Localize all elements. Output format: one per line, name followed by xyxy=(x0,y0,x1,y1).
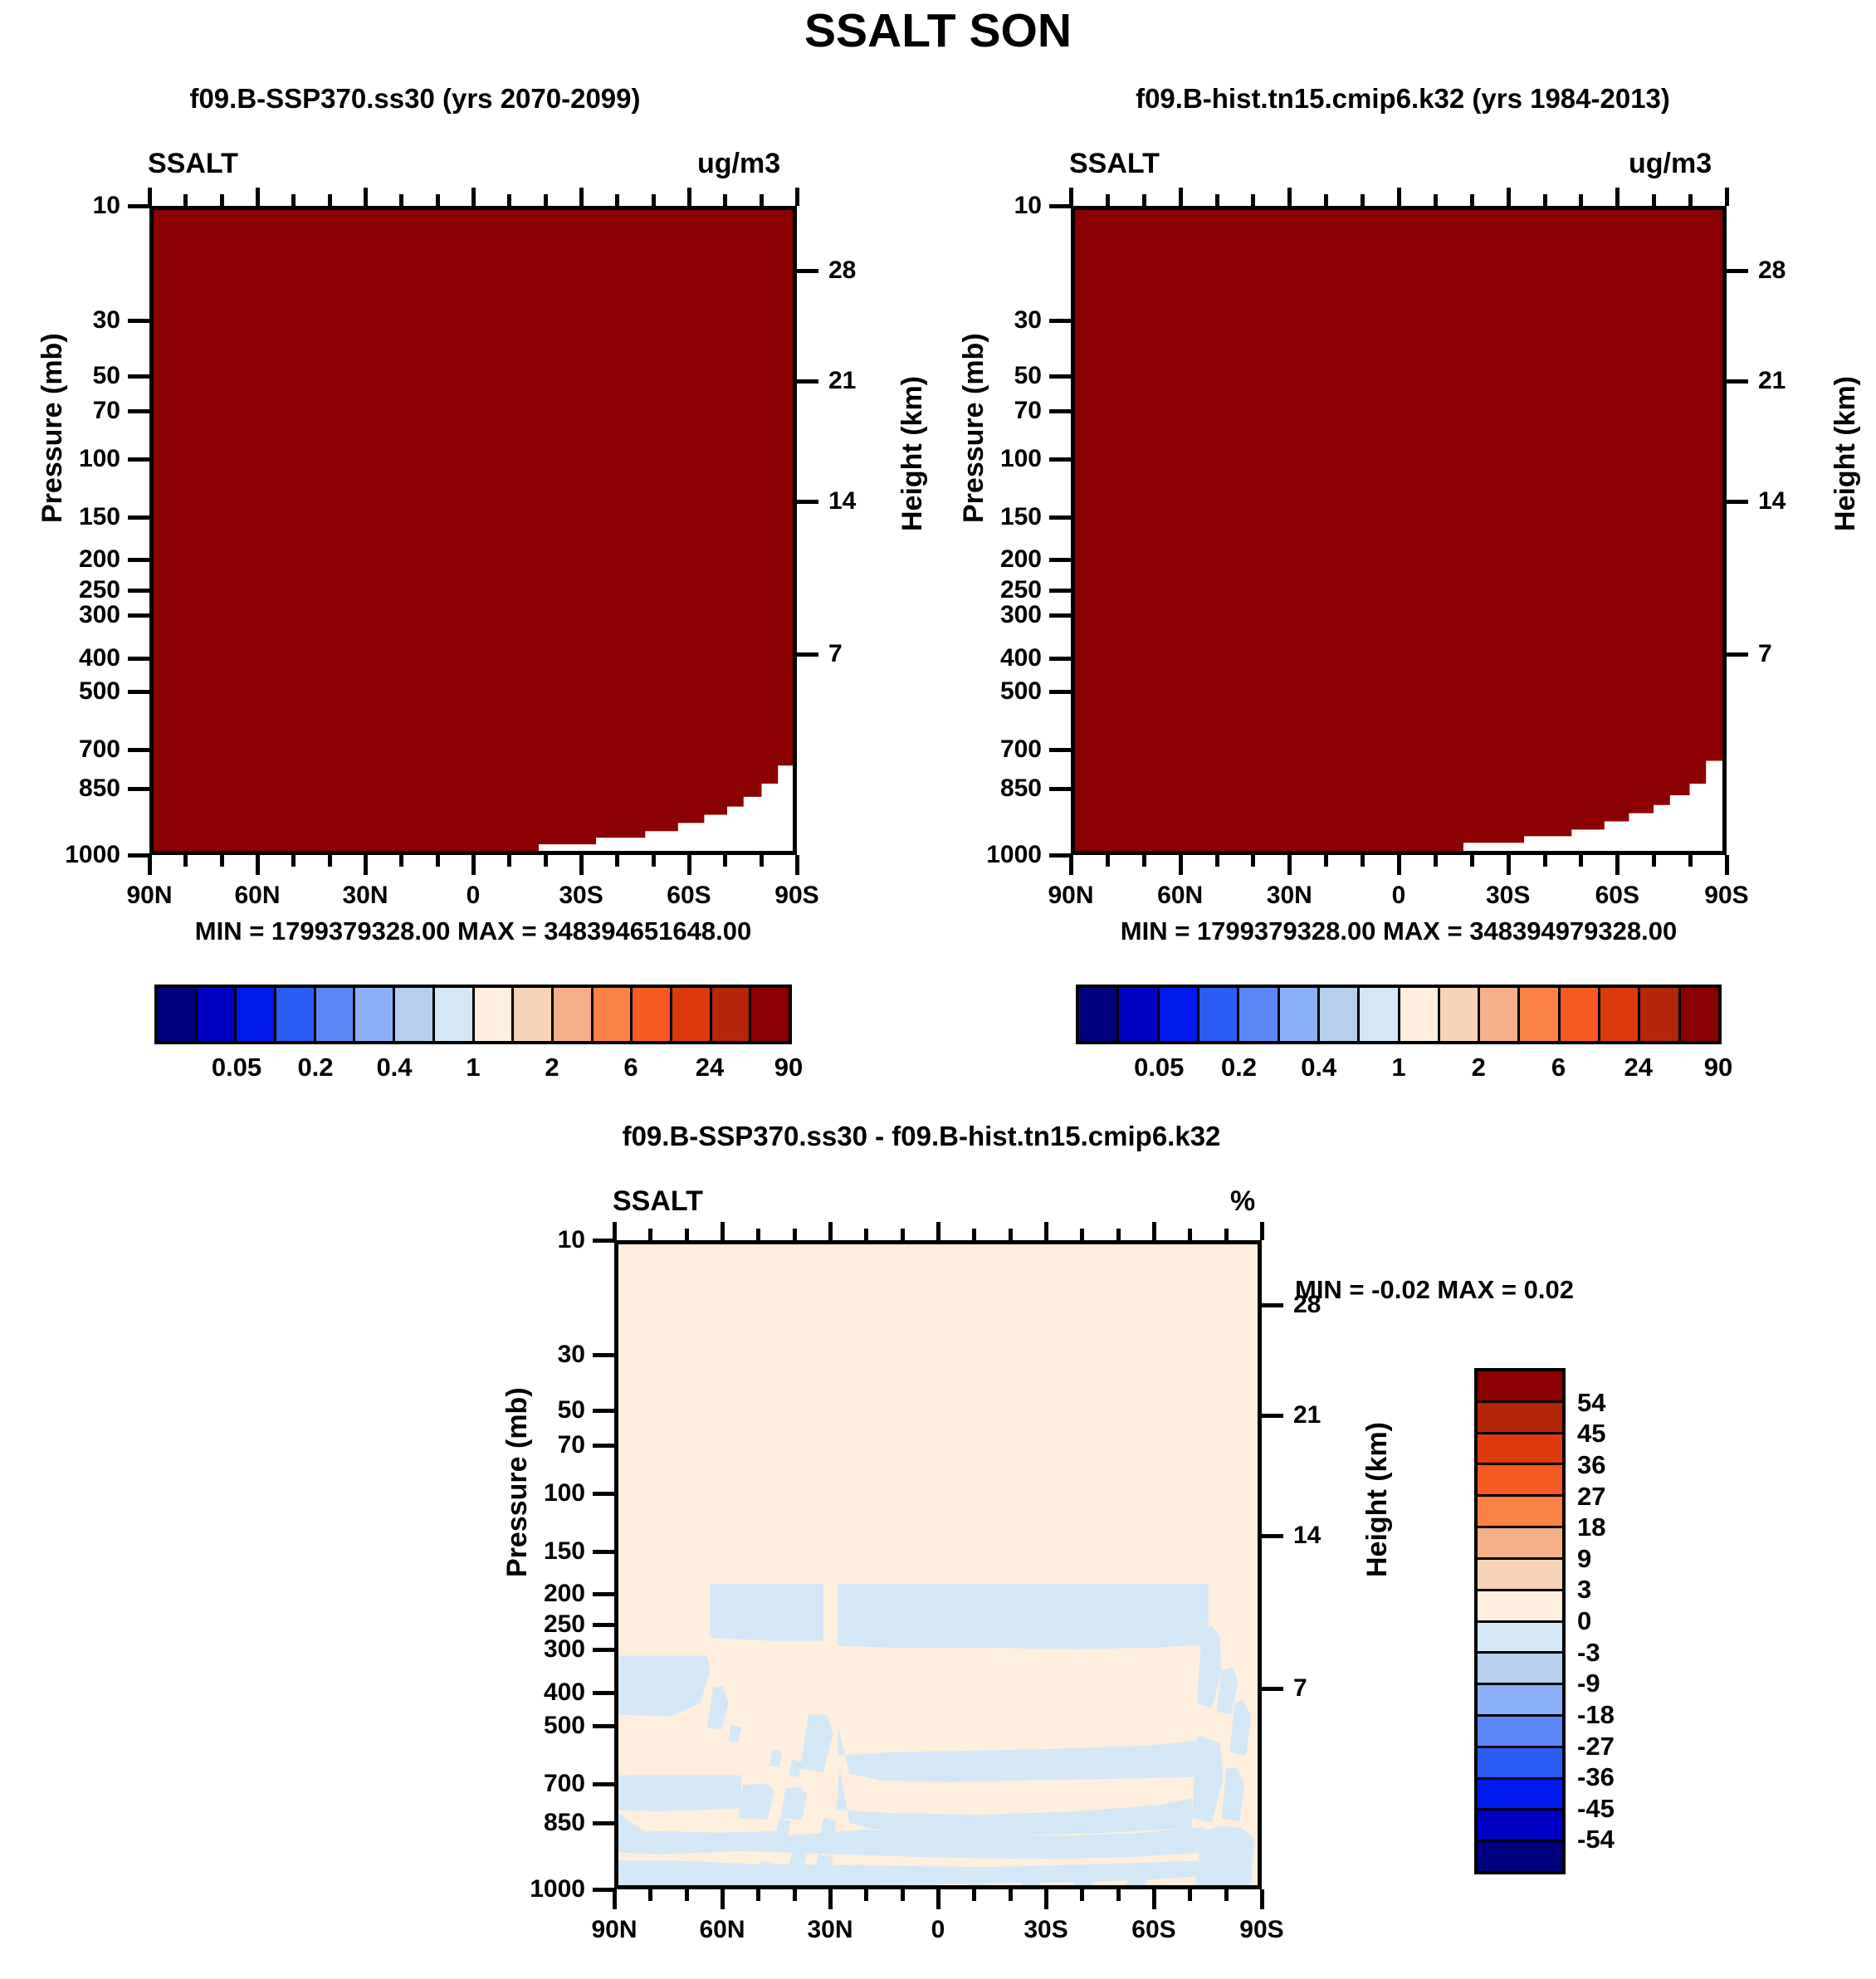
missing-data-wedge-top-left xyxy=(154,210,793,851)
pressure-tick-mark xyxy=(593,1691,614,1695)
latitude-minor-tick xyxy=(723,855,727,867)
plot-area-top-left[interactable] xyxy=(149,206,797,855)
colorbar-cell xyxy=(1440,988,1480,1041)
pressure-tick-label: 850 xyxy=(457,1809,585,1837)
latitude-minor-tick xyxy=(864,1889,868,1901)
pressure-tick-mark xyxy=(593,1239,614,1243)
pressure-tick-mark xyxy=(593,1353,614,1357)
latitude-minor-tick xyxy=(901,1889,905,1901)
minmax-top-left: MIN = 1799379328.00 MAX = 348394651648.0… xyxy=(149,916,797,946)
pressure-tick-mark xyxy=(128,558,149,562)
colorbar-cell xyxy=(475,988,515,1041)
pressure-tick-label: 1000 xyxy=(913,841,1042,869)
colorbar-tick-label: 2 xyxy=(545,1053,559,1082)
colorbar-tick-label: 45 xyxy=(1577,1419,1605,1449)
pressure-tick-label: 200 xyxy=(457,1580,585,1608)
latitude-minor-tick xyxy=(1009,1889,1013,1901)
colorbar-tick-label: -18 xyxy=(1577,1700,1615,1730)
height-tick-label: 28 xyxy=(1758,257,1786,285)
latitude-tick-mark-top xyxy=(364,188,368,206)
latitude-tick-mark-top xyxy=(828,1222,833,1240)
pressure-tick-mark xyxy=(128,374,149,379)
pressure-tick-label: 700 xyxy=(457,1770,585,1798)
latitude-tick-label: 30N xyxy=(1267,882,1312,910)
colorbar-cell xyxy=(355,988,395,1041)
pressure-tick-label: 10 xyxy=(457,1226,585,1254)
colorbar-cell xyxy=(1478,1842,1562,1871)
pressure-tick-mark xyxy=(593,1409,614,1413)
colorbar-cell xyxy=(237,988,276,1041)
latitude-tick-label: 90N xyxy=(1048,882,1093,910)
panel-title-top-right: f09.B-hist.tn15.cmip6.k32 (yrs 1984-2013… xyxy=(988,83,1818,115)
pressure-tick-mark xyxy=(1049,374,1071,379)
pressure-tick-mark xyxy=(128,690,149,694)
latitude-minor-tick-top xyxy=(1688,194,1693,206)
latitude-tick-label: 30S xyxy=(1023,1916,1067,1944)
colorbar-cell xyxy=(1079,988,1119,1041)
pressure-tick-mark xyxy=(128,657,149,661)
pressure-tick-mark xyxy=(128,409,149,413)
latitude-minor-tick-top xyxy=(864,1229,868,1240)
colorbar-cell xyxy=(594,988,633,1041)
height-tick-mark xyxy=(1727,500,1748,504)
pressure-tick-label: 30 xyxy=(913,306,1042,335)
pressure-tick-mark xyxy=(1049,589,1071,593)
latitude-tick-mark-top xyxy=(256,188,260,206)
latitude-tick-label: 0 xyxy=(467,882,481,910)
height-tick-label: 14 xyxy=(828,487,856,516)
latitude-minor-tick xyxy=(652,855,656,867)
pressure-tick-label: 70 xyxy=(0,397,120,425)
height-tick-label: 14 xyxy=(1293,1522,1321,1550)
latitude-tick-mark-top xyxy=(1260,1222,1264,1240)
pressure-tick-mark xyxy=(1049,319,1071,323)
latitude-tick-label: 30S xyxy=(1486,882,1530,910)
latitude-tick-mark-top xyxy=(1397,188,1401,206)
colorbar-cell xyxy=(1199,988,1239,1041)
missing-data-wedge-top-right xyxy=(1075,210,1722,851)
colorbar-cell xyxy=(435,988,475,1041)
latitude-tick-mark xyxy=(1179,855,1183,875)
minmax-bottom-diff: MIN = -0.02 MAX = 0.02 xyxy=(1295,1275,1760,1305)
height-tick-mark xyxy=(1727,652,1748,657)
pressure-tick-mark xyxy=(128,204,149,208)
latitude-tick-mark xyxy=(795,855,799,875)
colorbar-tick-label: 18 xyxy=(1577,1512,1605,1542)
latitude-tick-mark xyxy=(1152,1889,1156,1909)
latitude-tick-mark xyxy=(1287,855,1292,875)
colorbar-cell xyxy=(1239,988,1279,1041)
latitude-minor-tick-top xyxy=(1324,194,1328,206)
pressure-tick-label: 700 xyxy=(913,735,1042,764)
latitude-tick-mark-top xyxy=(1044,1222,1048,1240)
plot-area-bottom-diff[interactable] xyxy=(614,1240,1262,1889)
colorbar-tick-label: 24 xyxy=(696,1053,724,1082)
pressure-tick-label: 850 xyxy=(0,774,120,803)
colorbar-cell xyxy=(1478,1654,1562,1685)
colorbar-tick-label: -45 xyxy=(1577,1794,1615,1824)
latitude-tick-mark xyxy=(687,855,691,875)
height-tick-label: 28 xyxy=(828,257,856,285)
colorbar-cell xyxy=(554,988,594,1041)
latitude-minor-tick xyxy=(1470,855,1474,867)
unit-label-top-right: ug/m3 xyxy=(1629,148,1712,180)
pressure-tick-label: 400 xyxy=(457,1678,585,1707)
colorbar-tick-label: 1 xyxy=(466,1053,480,1082)
colorbar-cell xyxy=(1478,1528,1562,1560)
pressure-tick-mark xyxy=(1049,787,1071,791)
colorbar-cell xyxy=(1478,1434,1562,1466)
colorbar-cell xyxy=(1478,1371,1562,1403)
latitude-tick-mark xyxy=(579,855,584,875)
height-tick-label: 21 xyxy=(1293,1401,1321,1429)
height-tick-label: 21 xyxy=(828,367,856,395)
colorbar-tick-label: 6 xyxy=(1551,1053,1566,1082)
colorbar-cell xyxy=(395,988,435,1041)
latitude-minor-tick-top xyxy=(901,1229,905,1240)
latitude-minor-tick-top xyxy=(1142,194,1146,206)
colorbar-cell xyxy=(1478,1748,1562,1780)
colorbar-cell xyxy=(316,988,356,1041)
latitude-tick-label: 0 xyxy=(931,1916,945,1944)
colorbar-cell xyxy=(514,988,554,1041)
latitude-minor-tick xyxy=(1361,855,1365,867)
latitude-tick-label: 90N xyxy=(591,1916,637,1944)
height-tick-label: 21 xyxy=(1758,367,1786,395)
pressure-tick-mark xyxy=(128,319,149,323)
latitude-tick-mark-top xyxy=(1725,188,1729,206)
colorbar-tick-label: 1 xyxy=(1391,1053,1405,1082)
pressure-tick-label: 200 xyxy=(913,545,1042,574)
latitude-minor-tick-top xyxy=(1188,1229,1192,1240)
latitude-minor-tick xyxy=(328,855,332,867)
pressure-tick-mark xyxy=(1049,516,1071,520)
height-tick-mark xyxy=(1262,1534,1283,1538)
colorbar-labels-top-left: 0.050.20.41262490 xyxy=(154,1053,792,1086)
pressure-tick-mark xyxy=(593,1648,614,1652)
latitude-minor-tick-top xyxy=(652,194,656,206)
pressure-tick-label: 850 xyxy=(913,774,1042,803)
colorbar-tick-label: 6 xyxy=(623,1053,638,1082)
colorbar-tick-label: 54 xyxy=(1577,1388,1605,1418)
pressure-tick-mark xyxy=(1049,558,1071,562)
height-tick-mark xyxy=(797,269,818,273)
pressure-tick-label: 150 xyxy=(913,503,1042,531)
pressure-tick-mark xyxy=(593,1623,614,1627)
pressure-tick-mark xyxy=(593,1888,614,1892)
latitude-tick-mark-top xyxy=(148,188,152,206)
latitude-minor-tick xyxy=(1188,1889,1192,1901)
colorbar-tick-label: 90 xyxy=(774,1053,803,1082)
colorbar-top-left[interactable] xyxy=(154,985,792,1044)
latitude-minor-tick xyxy=(793,1889,797,1901)
pressure-tick-mark xyxy=(128,787,149,791)
pressure-tick-label: 200 xyxy=(0,545,120,574)
pressure-tick-label: 10 xyxy=(913,192,1042,220)
pressure-tick-mark xyxy=(1049,204,1071,208)
latitude-minor-tick-top xyxy=(1116,1229,1121,1240)
latitude-minor-tick-top xyxy=(1470,194,1474,206)
latitude-tick-mark-top xyxy=(1179,188,1183,206)
pressure-tick-mark xyxy=(128,748,149,752)
latitude-tick-mark-top xyxy=(795,188,799,206)
height-tick-mark xyxy=(1262,1687,1283,1691)
colorbar-top-right[interactable] xyxy=(1076,985,1722,1044)
latitude-tick-label: 90S xyxy=(1704,882,1748,910)
pressure-tick-mark xyxy=(1049,748,1071,752)
colorbar-bottom-diff[interactable] xyxy=(1474,1368,1566,1874)
latitude-minor-tick-top xyxy=(760,194,764,206)
latitude-tick-mark-top xyxy=(1615,188,1620,206)
plot-area-top-right[interactable] xyxy=(1071,206,1727,855)
pressure-tick-label: 50 xyxy=(913,362,1042,390)
pressure-tick-mark xyxy=(1049,457,1071,462)
latitude-tick-mark xyxy=(256,855,260,875)
height-tick-mark xyxy=(797,652,818,657)
latitude-tick-label: 90S xyxy=(774,882,818,910)
pressure-tick-mark xyxy=(593,1444,614,1448)
height-tick-mark xyxy=(1727,269,1748,273)
colorbar-tick-label: 27 xyxy=(1577,1482,1605,1512)
page-title: SSALT SON xyxy=(0,3,1876,58)
pressure-tick-mark xyxy=(593,1592,614,1596)
latitude-minor-tick-top xyxy=(507,194,511,206)
latitude-minor-tick-top xyxy=(1652,194,1656,206)
pressure-tick-label: 150 xyxy=(0,503,120,531)
pressure-tick-mark xyxy=(593,1724,614,1728)
latitude-minor-tick xyxy=(685,1889,689,1901)
colorbar-tick-label: 36 xyxy=(1577,1450,1605,1480)
latitude-minor-tick xyxy=(399,855,403,867)
pressure-tick-label: 150 xyxy=(457,1537,585,1566)
colorbar-tick-label: 24 xyxy=(1624,1053,1653,1082)
latitude-minor-tick-top xyxy=(399,194,403,206)
colorbar-cell xyxy=(1478,1623,1562,1654)
pressure-tick-mark xyxy=(1049,657,1071,661)
pressure-tick-mark xyxy=(593,1492,614,1496)
latitude-tick-mark-top xyxy=(687,188,691,206)
pressure-tick-label: 500 xyxy=(913,677,1042,706)
latitude-minor-tick xyxy=(1116,1889,1121,1901)
pressure-tick-mark xyxy=(128,516,149,520)
latitude-minor-tick xyxy=(544,855,548,867)
latitude-tick-mark-top xyxy=(1287,188,1292,206)
colorbar-cell xyxy=(1478,1685,1562,1717)
colorbar-cell xyxy=(1478,1560,1562,1591)
latitude-tick-mark-top xyxy=(471,188,476,206)
colorbar-tick-label: 0.2 xyxy=(297,1053,333,1082)
latitude-tick-mark xyxy=(1507,855,1511,875)
latitude-tick-mark xyxy=(364,855,368,875)
height-axis-title-bottom-diff: Height (km) xyxy=(1361,1422,1394,1577)
latitude-minor-tick-top xyxy=(328,194,332,206)
latitude-minor-tick-top xyxy=(436,194,440,206)
latitude-tick-mark xyxy=(936,1889,940,1909)
pressure-tick-label: 300 xyxy=(913,601,1042,629)
latitude-minor-tick xyxy=(1142,855,1146,867)
latitude-tick-label: 60S xyxy=(667,882,711,910)
pressure-tick-mark xyxy=(128,853,149,858)
latitude-minor-tick-top xyxy=(1361,194,1365,206)
latitude-tick-mark xyxy=(471,855,476,875)
variable-label-bottom-diff: SSALT xyxy=(613,1185,703,1218)
colorbar-cell xyxy=(1400,988,1440,1041)
colorbar-tick-label: 0.2 xyxy=(1221,1053,1257,1082)
colorbar-cell xyxy=(1520,988,1560,1041)
colorbar-tick-label: 0.05 xyxy=(1134,1053,1184,1082)
pressure-tick-label: 100 xyxy=(457,1479,585,1507)
colorbar-cell xyxy=(1478,1403,1562,1434)
latitude-tick-mark xyxy=(721,1889,725,1909)
colorbar-cell xyxy=(1561,988,1600,1041)
diff-negative-bands-bottom-diff xyxy=(618,1244,1258,1885)
latitude-minor-tick xyxy=(507,855,511,867)
pressure-tick-label: 50 xyxy=(457,1396,585,1424)
colorbar-cell xyxy=(1480,988,1520,1041)
pressure-tick-label: 500 xyxy=(0,677,120,706)
colorbar-cell xyxy=(1478,1717,1562,1748)
latitude-tick-mark xyxy=(1615,855,1620,875)
colorbar-cell xyxy=(1478,1591,1562,1623)
latitude-minor-tick xyxy=(1251,855,1255,867)
pressure-tick-label: 1000 xyxy=(457,1875,585,1903)
pressure-tick-mark xyxy=(593,1550,614,1554)
colorbar-cell xyxy=(1320,988,1360,1041)
latitude-minor-tick xyxy=(1215,855,1219,867)
colorbar-tick-label: -9 xyxy=(1577,1669,1600,1698)
latitude-tick-label: 60N xyxy=(699,1916,745,1944)
latitude-minor-tick xyxy=(756,1889,760,1901)
minmax-top-right: MIN = 1799379328.00 MAX = 348394979328.0… xyxy=(1071,916,1727,946)
colorbar-tick-label: 0.4 xyxy=(1301,1053,1336,1082)
colorbar-cell xyxy=(1478,1810,1562,1842)
colorbar-cell xyxy=(1280,988,1320,1041)
colorbar-cell xyxy=(672,988,712,1041)
latitude-minor-tick xyxy=(1080,1889,1084,1901)
latitude-minor-tick-top xyxy=(723,194,727,206)
height-tick-mark xyxy=(1727,379,1748,384)
pressure-tick-mark xyxy=(128,457,149,462)
latitude-tick-mark-top xyxy=(579,188,584,206)
latitude-tick-mark xyxy=(1044,1889,1048,1909)
pressure-tick-mark xyxy=(1049,853,1071,858)
latitude-minor-tick xyxy=(436,855,440,867)
pressure-tick-label: 50 xyxy=(0,362,120,390)
latitude-minor-tick-top xyxy=(1009,1229,1013,1240)
latitude-minor-tick-top xyxy=(544,194,548,206)
height-tick-label: 7 xyxy=(1758,640,1772,668)
variable-label-top-right: SSALT xyxy=(1069,148,1160,180)
panel-title-bottom-diff: f09.B-SSP370.ss30 - f09.B-hist.tn15.cmip… xyxy=(440,1121,1403,1152)
colorbar-cell xyxy=(1478,1497,1562,1528)
pressure-tick-label: 700 xyxy=(0,735,120,764)
colorbar-tick-label: 9 xyxy=(1577,1544,1591,1574)
height-tick-mark xyxy=(1262,1303,1283,1307)
variable-label-top-left: SSALT xyxy=(148,148,238,180)
latitude-minor-tick xyxy=(760,855,764,867)
colorbar-cell xyxy=(1640,988,1680,1041)
height-tick-mark xyxy=(797,379,818,384)
pressure-tick-label: 400 xyxy=(913,644,1042,672)
latitude-minor-tick-top xyxy=(793,1229,797,1240)
colorbar-tick-label: -36 xyxy=(1577,1762,1615,1792)
colorbar-tick-label: 3 xyxy=(1577,1575,1591,1605)
height-axis-title-top-right: Height (km) xyxy=(1830,376,1862,531)
colorbar-cell xyxy=(712,988,752,1041)
latitude-tick-mark-top xyxy=(936,1222,940,1240)
latitude-minor-tick-top xyxy=(1251,194,1255,206)
latitude-minor-tick-top xyxy=(183,194,188,206)
pressure-tick-label: 500 xyxy=(457,1712,585,1740)
latitude-tick-mark xyxy=(1260,1889,1264,1909)
latitude-tick-label: 0 xyxy=(1392,882,1406,910)
latitude-minor-tick-top xyxy=(615,194,619,206)
pressure-tick-label: 1000 xyxy=(0,841,120,869)
latitude-minor-tick-top xyxy=(972,1229,976,1240)
latitude-minor-tick-top xyxy=(1224,1229,1229,1240)
colorbar-cell xyxy=(1119,988,1159,1041)
latitude-minor-tick xyxy=(1652,855,1656,867)
unit-label-bottom-diff: % xyxy=(1230,1185,1255,1218)
panel-title-top-left: f09.B-SSP370.ss30 (yrs 2070-2099) xyxy=(42,83,789,115)
latitude-minor-tick-top xyxy=(1434,194,1438,206)
latitude-tick-label: 30N xyxy=(342,882,388,910)
latitude-minor-tick-top xyxy=(648,1229,652,1240)
latitude-minor-tick-top xyxy=(1215,194,1219,206)
pressure-tick-mark xyxy=(593,1782,614,1786)
latitude-minor-tick-top xyxy=(1106,194,1110,206)
latitude-minor-tick xyxy=(1324,855,1328,867)
height-tick-label: 14 xyxy=(1758,487,1786,516)
pressure-tick-label: 300 xyxy=(457,1635,585,1664)
height-tick-label: 7 xyxy=(828,640,843,668)
latitude-tick-label: 60S xyxy=(1595,882,1639,910)
pressure-tick-label: 100 xyxy=(913,445,1042,473)
pressure-tick-mark xyxy=(128,613,149,618)
latitude-minor-tick xyxy=(648,1889,652,1901)
colorbar-tick-label: 0.4 xyxy=(376,1053,412,1082)
latitude-minor-tick-top xyxy=(220,194,224,206)
latitude-tick-label: 90S xyxy=(1239,1916,1283,1944)
colorbar-cell xyxy=(1681,988,1718,1041)
pressure-tick-mark xyxy=(1049,690,1071,694)
height-tick-label: 7 xyxy=(1293,1674,1307,1703)
colorbar-labels-top-right: 0.050.20.41262490 xyxy=(1076,1053,1722,1086)
pressure-tick-mark xyxy=(128,589,149,593)
unit-label-top-left: ug/m3 xyxy=(697,148,780,180)
colorbar-cell xyxy=(1478,1465,1562,1497)
latitude-minor-tick-top xyxy=(1579,194,1583,206)
latitude-tick-label: 60N xyxy=(1157,882,1203,910)
latitude-tick-mark-top xyxy=(613,1222,617,1240)
latitude-minor-tick xyxy=(1543,855,1547,867)
latitude-minor-tick xyxy=(1579,855,1583,867)
pressure-tick-label: 70 xyxy=(913,397,1042,425)
pressure-tick-label: 300 xyxy=(0,601,120,629)
colorbar-tick-label: -54 xyxy=(1577,1825,1615,1854)
latitude-tick-mark-top xyxy=(1069,188,1073,206)
colorbar-cell xyxy=(1600,988,1640,1041)
colorbar-tick-label: 2 xyxy=(1472,1053,1486,1082)
pressure-tick-mark xyxy=(1049,613,1071,618)
latitude-tick-mark-top xyxy=(1152,1222,1156,1240)
colorbar-tick-label: 90 xyxy=(1704,1053,1732,1082)
latitude-tick-mark xyxy=(828,1889,833,1909)
latitude-minor-tick-top xyxy=(756,1229,760,1240)
latitude-minor-tick xyxy=(291,855,296,867)
colorbar-tick-label: -27 xyxy=(1577,1732,1615,1762)
latitude-minor-tick-top xyxy=(1543,194,1547,206)
